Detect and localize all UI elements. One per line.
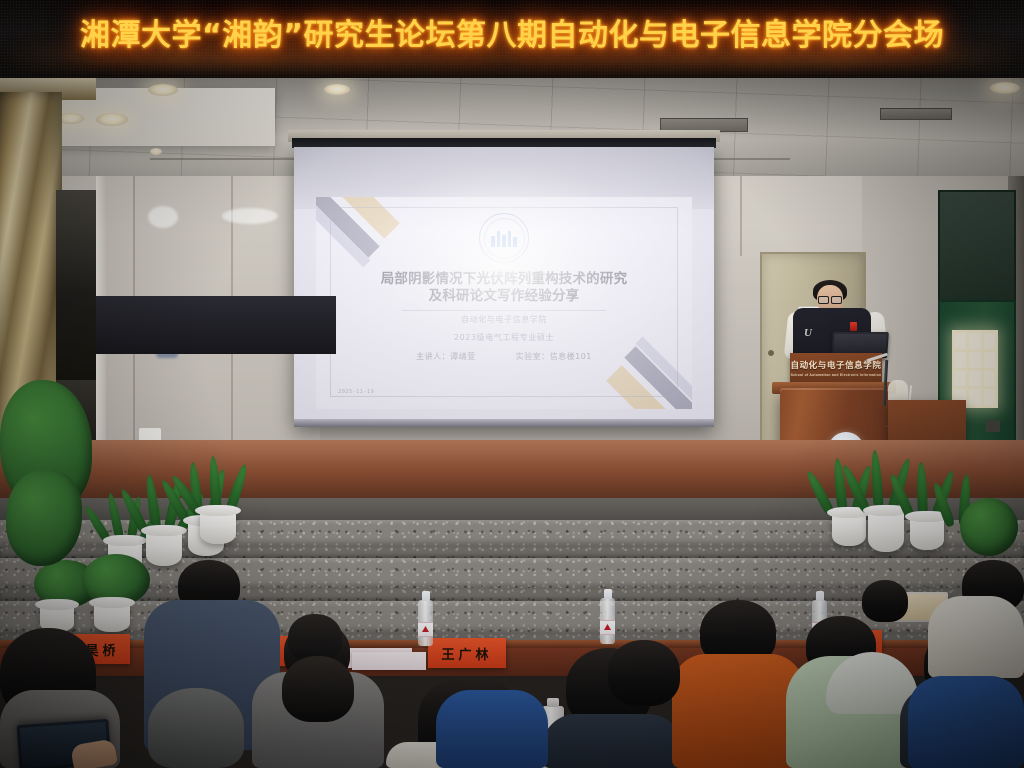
slide-program: 2023级电气工程专业硕士	[316, 332, 692, 343]
wall-seam-3	[740, 176, 742, 256]
bottle-label	[418, 622, 433, 637]
door-kick-plate	[986, 420, 1000, 432]
bottle-label	[600, 620, 615, 635]
audience-torso	[436, 690, 548, 768]
slide-divider	[402, 310, 606, 311]
door-window-panes	[952, 330, 998, 408]
ceiling-downlight-5	[990, 82, 1020, 94]
slide-speaker: 主讲人：谭靖萱	[416, 351, 476, 362]
name-placard-right: 王广林	[428, 638, 506, 668]
audience-head	[148, 688, 244, 768]
slide-title-line-1: 局部阴影情况下光伏阵列重构技术的研究	[316, 271, 692, 288]
podium-sign-english: School of Automation and Electronic Info…	[791, 373, 882, 377]
ceiling-downlight-4	[324, 84, 350, 95]
slide-department: 自动化与电子信息学院	[316, 314, 692, 325]
audience-head	[862, 580, 908, 622]
ceiling-downlight-2	[148, 84, 178, 96]
ceiling-air-vent-right	[880, 108, 952, 120]
audience-torso	[672, 654, 804, 768]
jacket-monogram: U	[804, 327, 812, 339]
plant-shrub	[960, 498, 1018, 556]
wall-scuff-1	[148, 206, 178, 228]
wall-recess-upper	[56, 190, 98, 380]
plant-pot	[832, 512, 866, 546]
lecture-hall-photo: 局部阴影情况下光伏阵列重构技术的研究 及科研论文写作经验分享 自动化与电子信息学…	[0, 0, 1024, 768]
led-banner-text: 湘潭大学“湘韵”研究生论坛第八期自动化与电子信息学院分会场	[0, 14, 1024, 58]
projection-screen-assembly: 局部阴影情况下光伏阵列重构技术的研究 及科研论文写作经验分享 自动化与电子信息学…	[288, 130, 720, 440]
audience-torso	[928, 596, 1024, 678]
audience-torso-blue-jacket	[908, 676, 1024, 768]
ceiling-sprinkler	[150, 148, 162, 155]
plant-pot	[868, 510, 904, 552]
screen-bottom-shadow	[294, 419, 714, 427]
plant-pot	[910, 516, 944, 550]
ceiling-downlight-3	[96, 113, 128, 126]
placard-name-text: 王广林	[441, 644, 492, 663]
wall-scuff-2	[222, 208, 278, 224]
logo-inner-ring	[484, 218, 525, 259]
xiangtan-university-logo-icon	[479, 213, 529, 263]
slide-room: 实验室：信息楼101	[516, 351, 592, 362]
presenter-glasses-icon	[818, 297, 842, 303]
water-bottle-2	[600, 598, 615, 644]
door-knob-icon[interactable]	[768, 350, 774, 356]
water-bottle-1	[418, 600, 433, 646]
slide-title-line-2: 及科研论文写作经验分享	[316, 288, 692, 305]
presentation-slide: 局部阴影情况下光伏阵列重构技术的研究 及科研论文写作经验分享 自动化与电子信息学…	[316, 197, 692, 409]
door-transom	[938, 190, 1016, 306]
audience-torso	[542, 714, 682, 768]
presenter-badge	[850, 322, 857, 331]
audience-head	[608, 640, 680, 706]
screen-lower-dark-panel	[96, 296, 336, 354]
audience-head	[288, 614, 342, 662]
slide-date: 2025-11-19	[338, 389, 374, 395]
plant-pot	[200, 510, 236, 544]
projection-screen: 局部阴影情况下光伏阵列重构技术的研究 及科研论文写作经验分享 自动化与电子信息学…	[294, 147, 714, 427]
led-banner: 湘潭大学“湘韵”研究生论坛第八期自动化与电子信息学院分会场	[0, 0, 1024, 78]
plant-pot	[146, 530, 182, 566]
plant-pot	[94, 602, 130, 632]
audience-head	[282, 656, 354, 722]
slide-meta-row: 主讲人：谭靖萱 实验室：信息楼101	[316, 351, 692, 362]
slide-title: 局部阴影情况下光伏阵列重构技术的研究 及科研论文写作经验分享	[316, 271, 692, 305]
desk-paper-2	[352, 652, 426, 670]
